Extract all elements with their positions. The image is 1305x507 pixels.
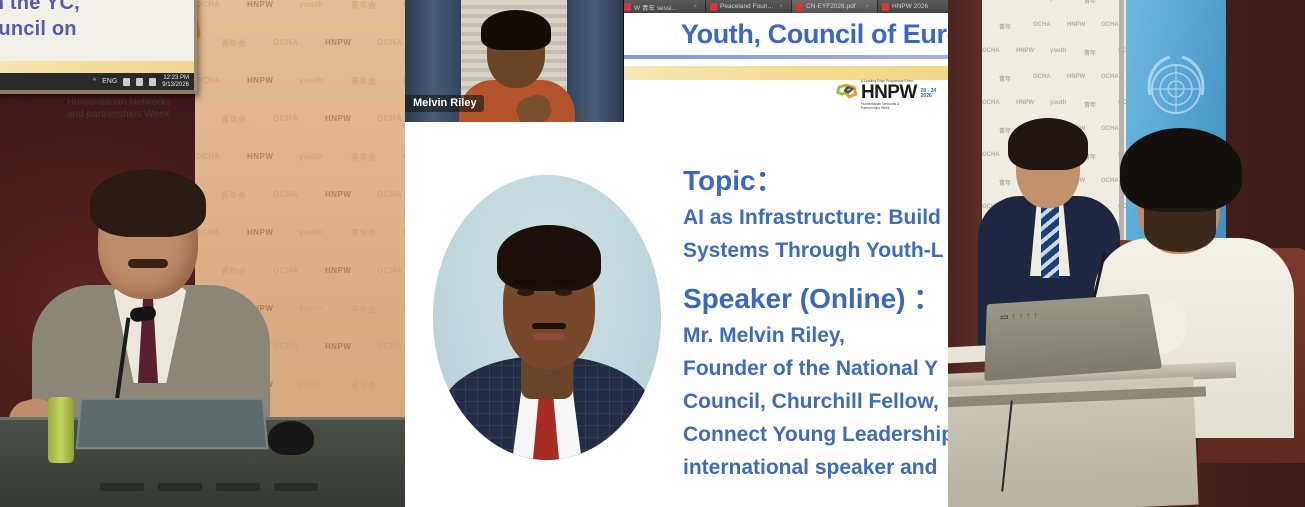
video-conference-stage: OCHAHNPWyouth青年会OCHA青年会OCHAHNPWOCHAHNPWO… [0, 0, 1305, 507]
backdrop-logo: OCHA [377, 266, 403, 275]
projected-slide-accent-band [0, 61, 194, 73]
podium-slot [274, 483, 318, 491]
close-icon[interactable]: × [779, 4, 783, 10]
panel-remote-room[interactable]: OCHAHNPWyouth青年OCHA青年OCHAHNPWOCHAHNPWOCH… [948, 0, 1305, 507]
backdrop-logo: OCHA [377, 114, 403, 123]
backdrop-logo: 青年 [1084, 0, 1096, 5]
browser-tab-label: CN-EYF2026.pdf [806, 3, 856, 10]
slide-header-gap [623, 59, 948, 66]
speaker-line: Founder of the National Y [683, 352, 948, 385]
portrait-eye-left [517, 289, 534, 296]
speaker-hair [90, 169, 206, 237]
projected-slide-text: in the YC, ouncil on [0, 0, 196, 42]
backdrop-logo: 青年会 [351, 152, 377, 163]
projected-line-2: ouncil on [0, 16, 196, 42]
backdrop-logo: 青年 [999, 178, 1011, 187]
backdrop-logo: OCHA [1101, 22, 1119, 28]
backdrop-logo: 青年会 [351, 0, 377, 11]
panel-in-person-speaker[interactable]: OCHAHNPWyouth青年会OCHA青年会OCHAHNPWOCHAHNPWO… [0, 0, 405, 507]
hnpw-subtitle-line2: and partnerships Week [67, 109, 237, 121]
pdf-icon [710, 3, 717, 11]
backdrop-logo: HNPW [325, 266, 351, 275]
portrait-hair [497, 225, 601, 291]
close-icon[interactable]: × [865, 4, 869, 10]
portrait-moustache [532, 323, 566, 329]
delegate-2-tie [1041, 206, 1059, 278]
topic-line: AI as Infrastructure: Build [683, 201, 948, 234]
backdrop-logo: youth [299, 152, 323, 161]
backdrop-logo: OCHA [1101, 74, 1119, 80]
projected-slide-screen: in the YC, ouncil on ^ ENG 12:23 PM 9/13… [0, 0, 197, 94]
backdrop-logo: OCHA [273, 190, 299, 199]
backdrop-logo: youth [1050, 100, 1066, 106]
browser-tab[interactable]: W 青年 sessi...× [620, 0, 706, 13]
hnpw-subtitle-line1: Humanitarian Networks [67, 97, 237, 109]
slide-hnpw-logo: A Leading Edge Programme Event HNPW Huma… [835, 79, 940, 109]
speaker-moustache [128, 259, 168, 268]
backdrop-logo: HNPW [325, 342, 351, 351]
speaker-line: Connect Young Leadership [683, 418, 948, 451]
backdrop-logo: 青年 [999, 74, 1011, 83]
podium-slot [216, 483, 260, 491]
speaker-portrait-circle [433, 175, 661, 460]
taskbar-language-indicator[interactable]: ENG [102, 78, 117, 86]
backdrop-logo: youth [1050, 0, 1066, 2]
backdrop-logo: 青年 [999, 126, 1011, 135]
backdrop-logo: 青年会 [351, 228, 377, 239]
backdrop-logo: HNPW [247, 76, 273, 85]
taskbar-clock[interactable]: 12:23 PM 9/13/2026 [162, 75, 189, 89]
topic-line: Systems Through Youth-L [683, 234, 948, 267]
backdrop-logo: HNPW [1016, 100, 1034, 106]
slide-hnpw-text-block: A Leading Edge Programme Event HNPW Huma… [861, 79, 917, 110]
pdf-icon [796, 3, 803, 11]
delegate-2-hair [1008, 118, 1088, 170]
topic-label: Topic： [683, 161, 948, 201]
slide-body-text: Topic： AI as Infrastructure: Build Syste… [683, 161, 948, 484]
backdrop-logo: youth [1050, 48, 1066, 54]
taskbar-chevron-icon[interactable]: ^ [93, 78, 96, 86]
backdrop-logo: youth [299, 304, 323, 313]
text-spacer [683, 267, 948, 279]
backdrop-logo: 青年会 [351, 304, 377, 315]
slide-header: Youth, Council of Europe [623, 13, 948, 55]
backdrop-logo: youth [299, 380, 323, 389]
participant-hair [481, 10, 551, 50]
un-emblem-icon [1140, 49, 1212, 131]
backdrop-logo: youth [299, 228, 323, 237]
backdrop-logo: HNPW [325, 190, 351, 199]
hnpw-logo-icon [835, 84, 857, 104]
slide-header-title: Youth, Council of Europe [623, 19, 948, 50]
browser-tab-label: Peaceland Foundat... [720, 3, 776, 10]
speaker-label: Speaker (Online) ： [683, 279, 948, 319]
podium-laptop [76, 398, 269, 449]
portrait-eyebrow-left [514, 279, 536, 284]
hnpw-wordmark: HNPW [861, 83, 917, 102]
speaker-line: international speaker and [683, 451, 948, 484]
backdrop-logo: OCHA [377, 38, 403, 47]
pdf-icon [882, 3, 889, 11]
backdrop-logo: youth [299, 76, 323, 85]
panel-shared-screen[interactable]: W 青年 sessi...×Peaceland Foundat...×CN-EY… [405, 0, 948, 507]
backdrop-logo: OCHA [377, 190, 403, 199]
speaker-line: Council, Churchill Fellow, [683, 385, 948, 418]
backdrop-logo: 青年 [999, 22, 1011, 31]
monitor-brand-mark: ▭↑↑↑↑ [1000, 310, 1041, 323]
backdrop-logo: OCHA [1101, 178, 1119, 184]
backdrop-logo: OCHA [1101, 126, 1119, 132]
backdrop-logo: OCHA [273, 266, 299, 275]
backdrop-logo: OCHA [982, 152, 1000, 158]
delegate-1-beard [1144, 208, 1216, 252]
desk-monitor: ▭↑↑↑↑ [984, 294, 1162, 381]
backdrop-logo: OCHA [273, 342, 299, 351]
battery-icon[interactable] [149, 78, 156, 86]
portrait-mouth [533, 333, 565, 340]
backdrop-logo: OCHA [1033, 74, 1051, 80]
hnpw-dates: 20 - 24 2026 [921, 89, 940, 100]
backdrop-logo: 青年 [1084, 48, 1096, 57]
backdrop-logo: OCHA [982, 0, 1000, 2]
speaker-line: Mr. Melvin Riley, [683, 319, 948, 352]
backdrop-logo: HNPW [1067, 74, 1085, 80]
backdrop-logo: 青年会 [351, 76, 377, 87]
headphones-icon [268, 421, 314, 455]
backdrop-logo: 青年 [1084, 100, 1096, 109]
backdrop-logo: OCHA [273, 114, 299, 123]
backdrop-logo: HNPW [1067, 22, 1085, 28]
participant-video-tile[interactable]: Melvin Riley [405, 0, 624, 122]
volume-icon[interactable] [136, 78, 143, 86]
backdrop-logo: HNPW [325, 38, 351, 47]
backdrop-logo: 青年会 [351, 380, 377, 391]
browser-tab[interactable]: HNPW 2026× [878, 0, 948, 13]
hnpw-subtitle: Humanitarian Networks and partnerships W… [67, 97, 237, 121]
backdrop-logo: youth [299, 0, 323, 9]
backdrop-logo: HNPW [1016, 0, 1034, 2]
backdrop-logo: OCHA [195, 152, 221, 161]
backdrop-logo: OCHA [377, 342, 403, 351]
network-icon[interactable] [123, 78, 130, 86]
water-bottle [48, 397, 74, 463]
browser-tab[interactable]: Peaceland Foundat...× [706, 0, 792, 13]
pdf-icon [624, 3, 631, 11]
close-icon[interactable]: × [693, 4, 697, 10]
participant-name-label: Melvin Riley [405, 95, 484, 112]
projected-line-1: in the YC, [0, 0, 196, 16]
podium-slot [100, 483, 144, 491]
backdrop-logo: OCHA [982, 48, 1000, 54]
backdrop-logo: HNPW [1016, 48, 1034, 54]
curtain-right [567, 0, 623, 122]
backdrop-logo: OCHA [982, 100, 1000, 106]
windows-taskbar[interactable]: ^ ENG 12:23 PM 9/13/2026 [0, 73, 194, 90]
taskbar-time: 12:23 PM [163, 75, 189, 81]
browser-tab-label: W 青年 sessi... [634, 2, 677, 12]
podium-slot [158, 483, 202, 491]
browser-tab[interactable]: CN-EYF2026.pdf× [792, 0, 878, 13]
browser-tab-label: HNPW 2026 [892, 3, 928, 10]
portrait-eye-right [555, 289, 572, 296]
backdrop-logo: HNPW [325, 114, 351, 123]
backdrop-logo: HNPW [247, 0, 273, 9]
delegate-1-hair [1120, 128, 1242, 212]
portrait-eyebrow-right [552, 279, 574, 284]
speaker-portrait [425, 165, 670, 465]
backdrop-logo: OCHA [273, 38, 299, 47]
taskbar-date: 9/13/2026 [162, 82, 189, 88]
backdrop-logo: OCHA [1033, 22, 1051, 28]
hnpw-full-subtitle: Humanitarian Networks & Partnerships Wee… [861, 102, 917, 110]
backdrop-logo: HNPW [247, 152, 273, 161]
